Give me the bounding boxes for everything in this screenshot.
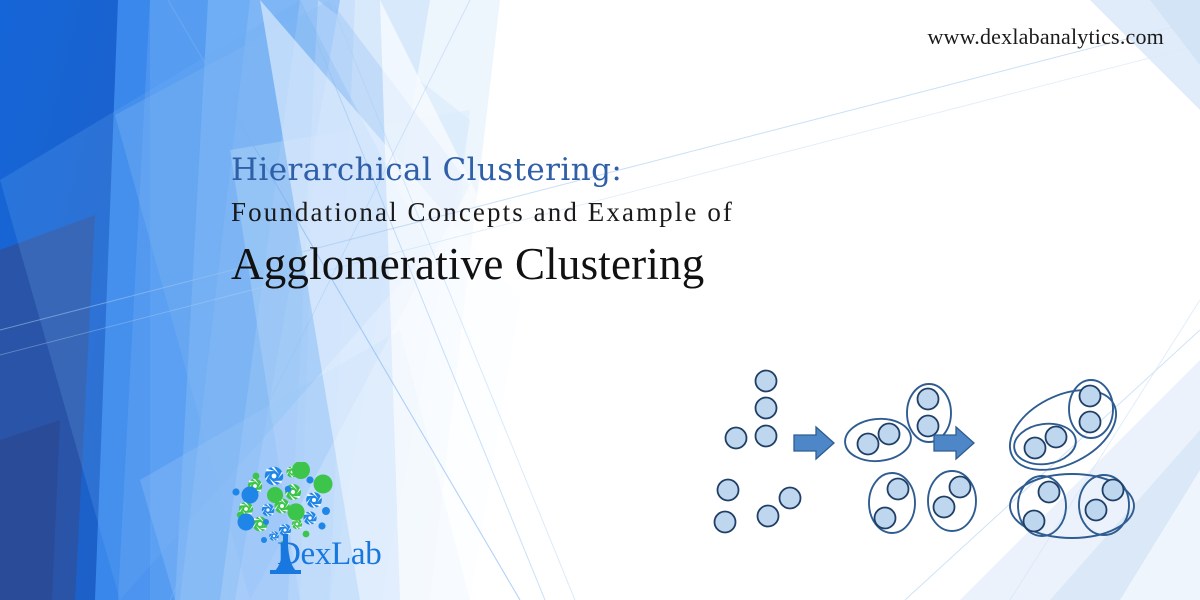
data-point <box>1080 386 1101 407</box>
title-line-subtitle: Foundational Concepts and Example of <box>231 192 931 232</box>
data-point <box>918 416 939 437</box>
dexlab-logo[interactable]: DexLab <box>222 462 412 577</box>
data-point <box>1039 482 1060 503</box>
data-point <box>934 497 955 518</box>
data-point <box>756 371 777 392</box>
data-point <box>756 398 777 419</box>
slide-canvas: www.dexlabanalytics.com Hierarchical Clu… <box>0 0 1200 600</box>
arrow-stage2-to-stage3 <box>934 427 974 459</box>
data-point <box>715 512 736 533</box>
data-point <box>1024 511 1045 532</box>
data-point <box>879 424 900 445</box>
data-point <box>1046 427 1067 448</box>
title-line-main: Agglomerative Clustering <box>231 236 931 292</box>
site-url: www.dexlabanalytics.com <box>927 24 1164 50</box>
stage-1-scattered-points <box>715 371 801 533</box>
data-point <box>858 434 879 455</box>
data-point <box>1086 500 1107 521</box>
data-point <box>758 506 779 527</box>
page-title: Hierarchical Clustering: Foundational Co… <box>231 150 931 292</box>
data-point <box>1025 438 1046 459</box>
data-point <box>726 428 747 449</box>
stage-3-merged-clusters <box>997 374 1134 538</box>
title-line-primary: Hierarchical Clustering: <box>231 150 931 190</box>
data-point <box>780 488 801 509</box>
data-point <box>950 477 971 498</box>
data-point <box>1080 412 1101 433</box>
data-point <box>875 508 896 529</box>
data-point <box>918 389 939 410</box>
data-point <box>756 426 777 447</box>
data-point <box>1103 480 1124 501</box>
clustering-diagram-svg <box>690 358 1160 543</box>
clustering-diagram <box>690 358 1160 543</box>
data-point <box>718 480 739 501</box>
data-point <box>888 479 909 500</box>
dexlab-wordmark: DexLab <box>277 538 381 571</box>
arrow-stage1-to-stage2 <box>794 427 834 459</box>
